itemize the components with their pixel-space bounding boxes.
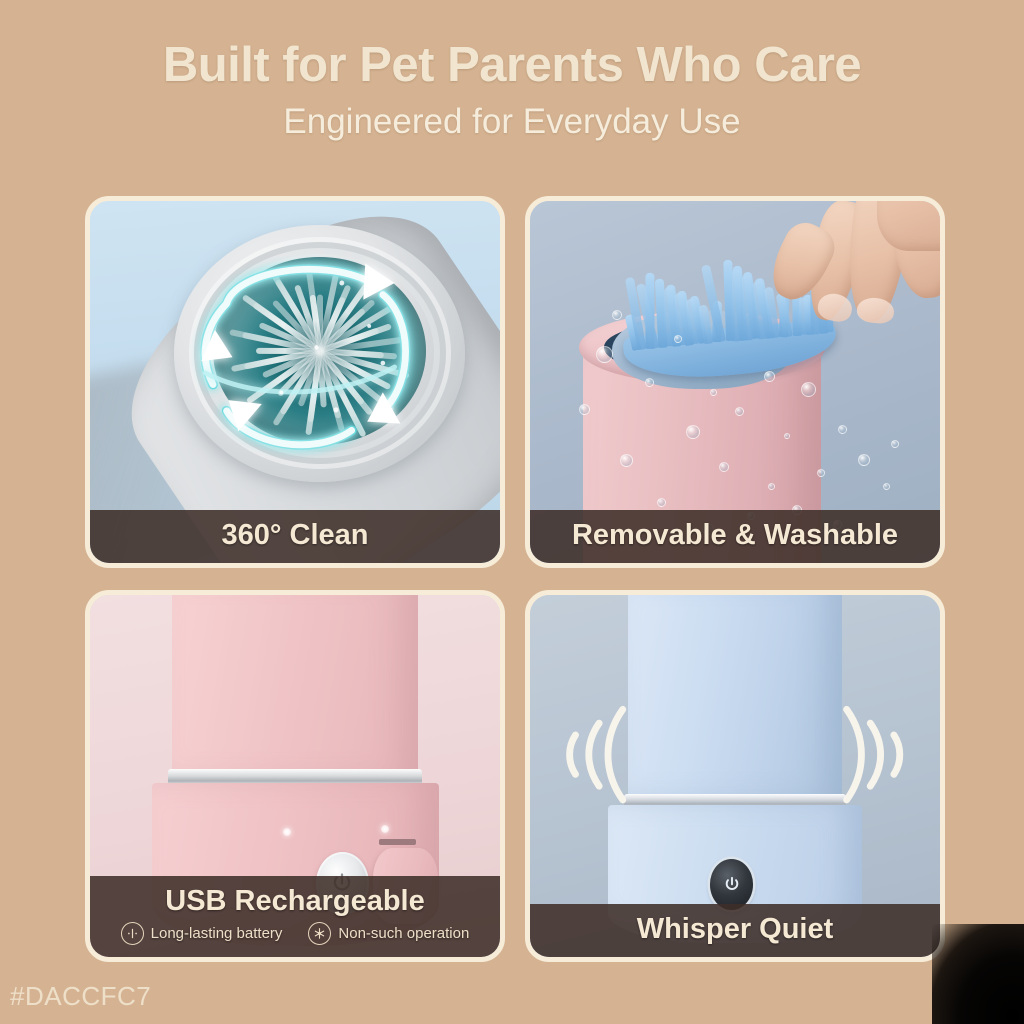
sublabel-text: Non-such operation <box>338 925 469 942</box>
snowflake-icon <box>308 922 331 945</box>
water-droplet <box>801 382 816 397</box>
water-droplet <box>838 425 847 434</box>
panel-360-clean[interactable]: 360° Clean <box>85 196 505 568</box>
hand-icon <box>735 201 940 360</box>
water-droplet <box>674 335 682 343</box>
feature-panel-grid: 360° Clean Removable & <box>85 196 945 968</box>
watermark-label: #DACCFC7 <box>10 981 151 1012</box>
water-droplet <box>764 371 775 382</box>
panel-caption: USB Rechargeable Long-lasting battery <box>90 876 500 957</box>
water-droplet <box>784 433 790 439</box>
water-droplet <box>596 346 613 363</box>
sublabel-text: Long-lasting battery <box>151 925 283 942</box>
page-title: Built for Pet Parents Who Care <box>0 40 1024 91</box>
caption-title: 360° Clean <box>96 519 494 551</box>
panel-caption: Removable & Washable <box>530 510 940 563</box>
panel-whisper-quiet[interactable]: Whisper Quiet <box>525 590 945 962</box>
water-droplet <box>612 310 622 320</box>
water-droplet <box>891 440 899 448</box>
page-subtitle: Engineered for Everyday Use <box>0 103 1024 142</box>
water-droplet <box>719 462 729 472</box>
panel-caption: 360° Clean <box>90 510 500 563</box>
water-droplet <box>817 469 825 477</box>
panel-removable-washable[interactable]: Removable & Washable <box>525 196 945 568</box>
sound-wave-icon <box>546 675 644 834</box>
sublabel-non-such-operation: Non-such operation <box>308 922 469 945</box>
water-droplet <box>579 404 590 415</box>
water-droplet <box>657 498 666 507</box>
panel-usb-rechargeable[interactable]: USB Rechargeable Long-lasting battery <box>85 590 505 962</box>
caption-title: Whisper Quiet <box>536 913 934 945</box>
header: Built for Pet Parents Who Care Engineere… <box>0 0 1024 190</box>
brush-spike <box>664 288 673 347</box>
caption-title: Removable & Washable <box>536 519 934 551</box>
led-indicator <box>381 825 389 833</box>
usb-port-icon <box>379 839 416 845</box>
battery-icon <box>121 922 144 945</box>
sound-wave-icon <box>825 675 923 834</box>
device-upper-body <box>172 595 418 783</box>
corner-shadow-artifact <box>932 924 1024 1024</box>
caption-title: USB Rechargeable <box>96 885 494 917</box>
device-upper-body <box>628 595 841 801</box>
sublabel-long-lasting-battery: Long-lasting battery <box>121 922 283 945</box>
panel-caption: Whisper Quiet <box>530 904 940 957</box>
caption-sublabels: Long-lasting battery Non-such operation <box>96 922 494 945</box>
water-droplet <box>883 483 890 490</box>
bristle-bowl <box>213 257 426 445</box>
